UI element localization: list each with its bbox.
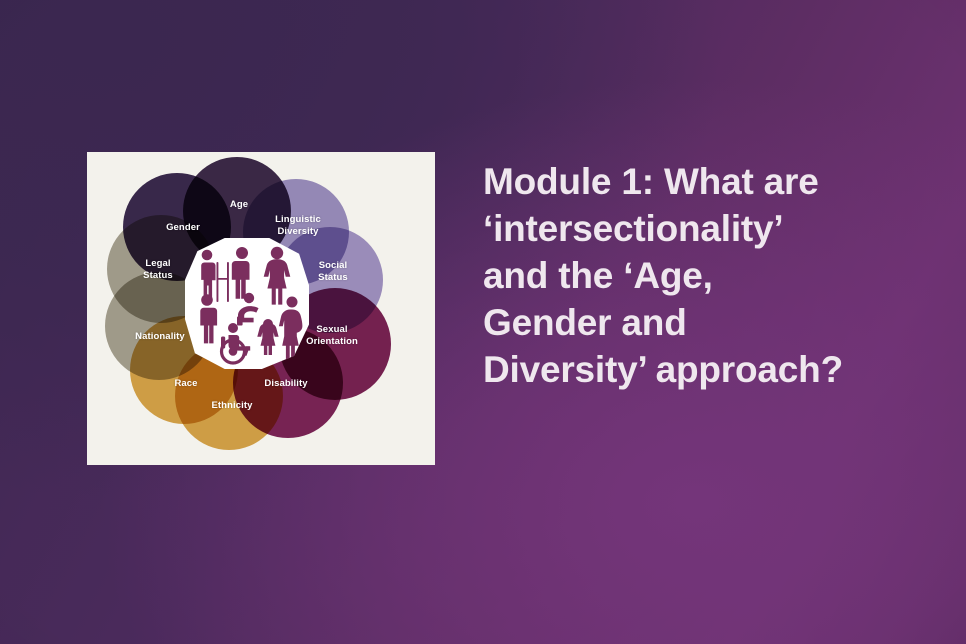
petal-label-sexual-orientation-text: Sexual Orientation [306,324,358,347]
title-line-2: ‘intersectionality’ [483,205,903,252]
petal-label-social-status: Social Status [305,260,361,283]
petal-label-ethnicity: Ethnicity [201,400,263,412]
venn-petal-group: Age Gender Linguistic Diversity Social S… [87,152,435,465]
people-pictograms-icon [185,238,309,369]
petal-label-sexual-orientation: Sexual Orientation [295,324,369,347]
title-line-4: Gender and [483,299,903,346]
petal-label-disability: Disability [255,378,317,390]
petal-label-social-status-text: Social Status [318,260,348,283]
central-people-octagon [185,238,309,369]
slide-title: Module 1: What are ‘intersectionality’ a… [483,158,903,393]
presentation-slide: Age Gender Linguistic Diversity Social S… [0,0,966,644]
petal-label-nationality: Nationality [123,331,197,343]
petal-label-legal-status: Legal Status [131,258,185,281]
petal-label-linguistic-diversity-text: Linguistic Diversity [275,214,321,237]
intersectionality-diagram-image: Age Gender Linguistic Diversity Social S… [87,152,435,465]
petal-label-legal-status-text: Legal Status [143,258,173,281]
petal-label-gender: Gender [155,222,211,234]
title-line-1: Module 1: What are [483,158,903,205]
title-line-5: Diversity’ approach? [483,346,903,393]
title-line-3: and the ‘Age, [483,252,903,299]
petal-label-race: Race [164,378,208,390]
petal-label-linguistic-diversity: Linguistic Diversity [267,214,329,237]
petal-label-age: Age [217,199,261,211]
